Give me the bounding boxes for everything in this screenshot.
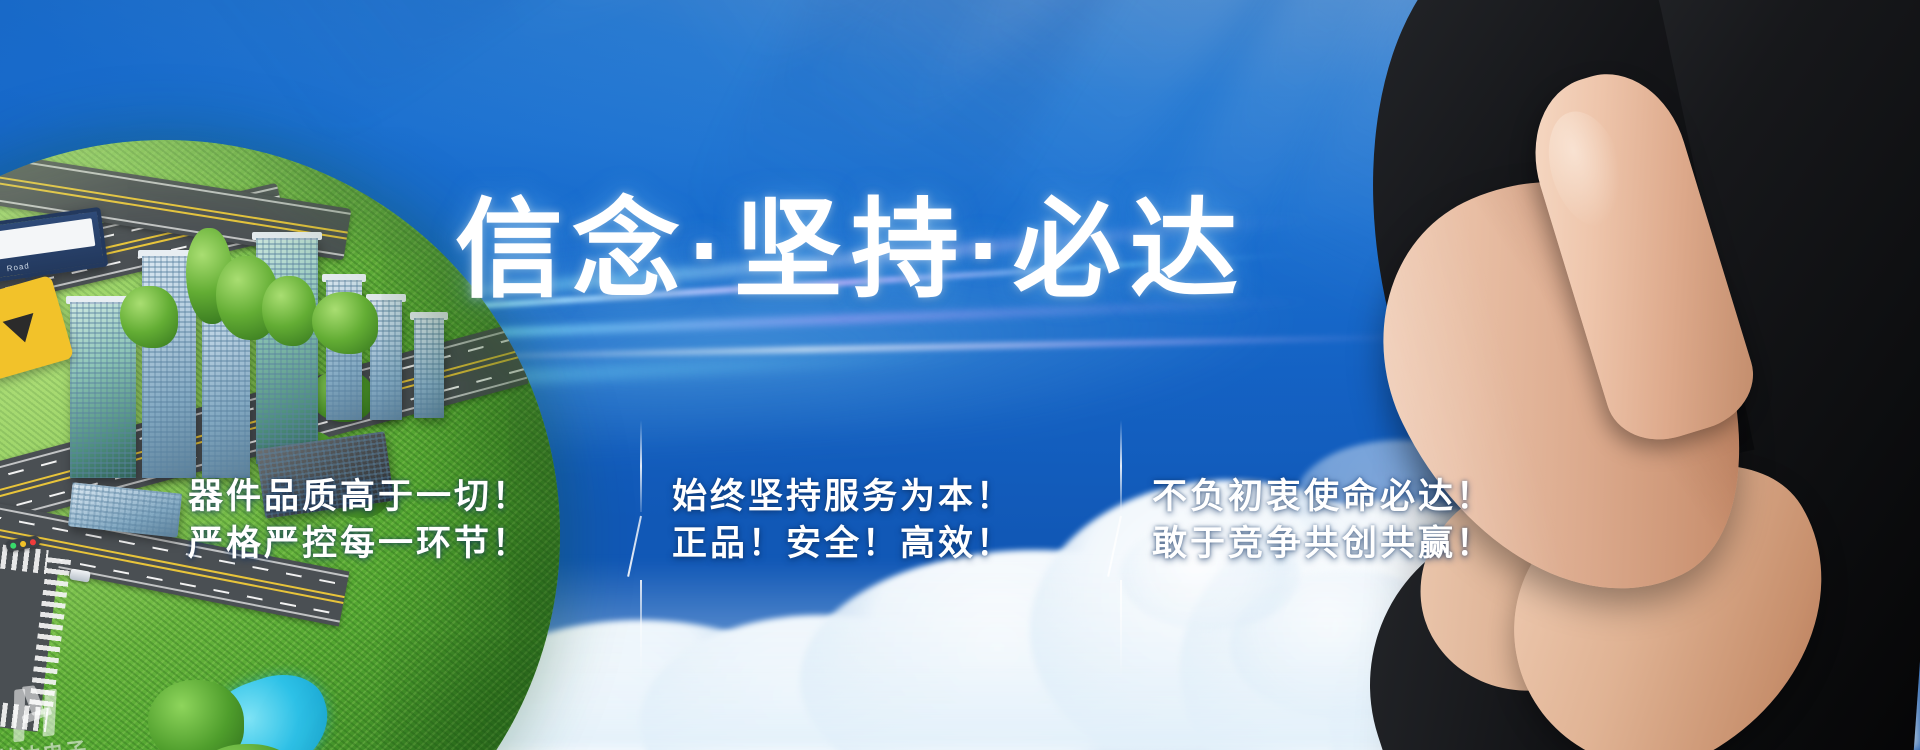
divider-segment-top [1120,420,1122,512]
divider-segment-mid [1107,516,1122,577]
tagline-2-line-2: 正品！安全！高效！ [672,521,1014,568]
road-sign-subtext: Road [6,261,30,273]
page-title: 信念·坚持·必达 [455,196,1247,304]
tagline-2-line-1: 始终坚持服务为本！ [672,477,1014,516]
tree [262,276,316,346]
tree [312,292,378,354]
divider-segment-mid [627,516,642,577]
tagline-block-2: 始终坚持服务为本！ 正品！安全！高效！ [672,474,1014,568]
tagline-3-line-1: 不负初衷使命必达！ [1152,477,1494,516]
road-sign-plate [0,218,95,266]
tagline-block-1: 器件品质高于一切！ 严格严控每一环节！ [188,474,530,568]
tagline-1-line-1: 器件品质高于一切！ [188,477,530,516]
tagline-3-line-2: 敢于竞争共创共赢！ [1152,521,1494,568]
divider-segment-top [640,420,642,512]
tagline-block-3: 不负初衷使命必达！ 敢于竞争共创共赢！ [1152,474,1494,568]
tree [120,286,178,348]
promotional-banner: 梵达电子 Fanda Electronics on Road 信念·坚持·必达 … [0,0,1920,750]
tagline-1-line-2: 严格严控每一环节！ [188,521,530,568]
tagline-row: 器件品质高于一切！ 严格严控每一环节！ 始终坚持服务为本！ 正品！安全！高效！ … [0,430,1920,590]
